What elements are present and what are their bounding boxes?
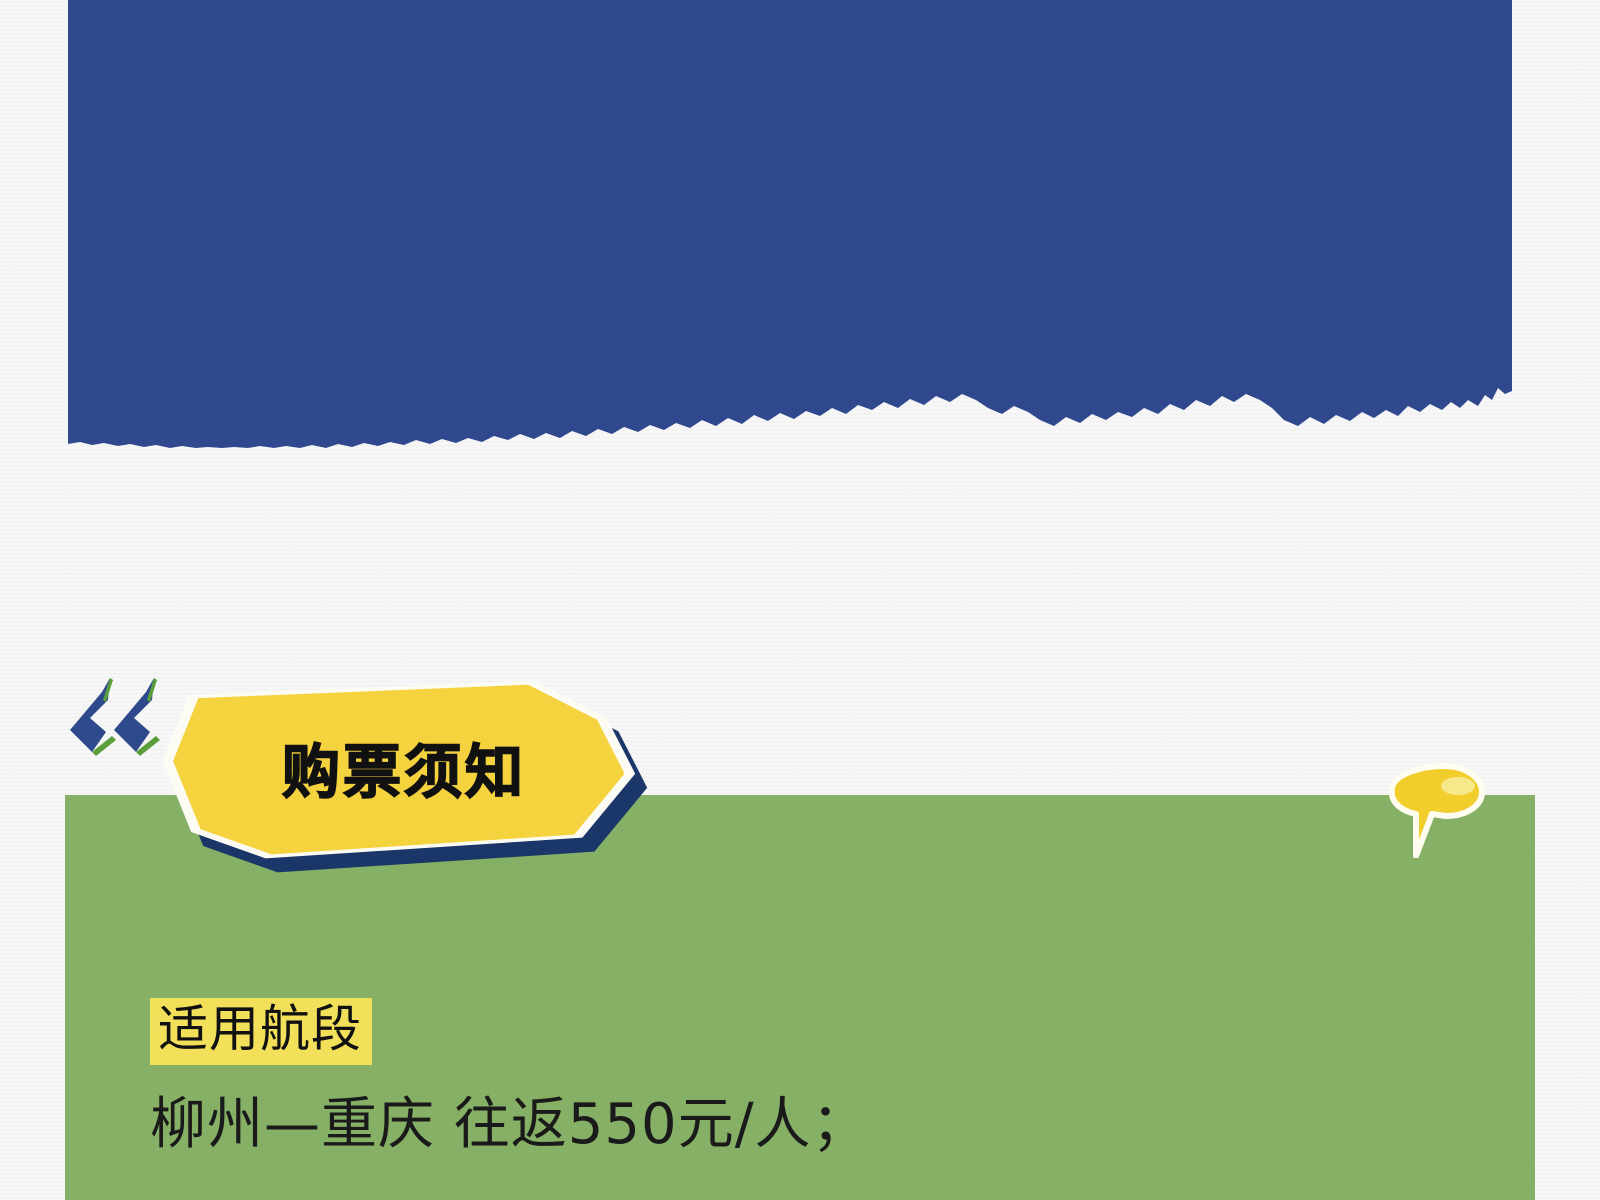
section-title-banner: 购票须知	[160, 676, 640, 864]
navy-torn-shape	[68, 0, 1512, 448]
poster-canvas: 购票须知 适用航段 柳州—重庆 往返550元/人；	[0, 0, 1600, 1200]
route-line: 柳州—重庆 往返550元/人；	[150, 1093, 1490, 1157]
section-tag-applicable-routes: 适用航段	[150, 998, 372, 1065]
pushpin-icon	[1382, 748, 1490, 858]
section-title-text: 购票须知	[160, 676, 640, 864]
quote-mark-icon	[68, 670, 164, 756]
pushpin-shape	[1382, 748, 1490, 858]
navy-torn-banner	[68, 0, 1512, 448]
info-panel-content: 适用航段 柳州—重庆 往返550元/人；	[150, 998, 1490, 1157]
quote-mark-shape	[68, 670, 164, 756]
